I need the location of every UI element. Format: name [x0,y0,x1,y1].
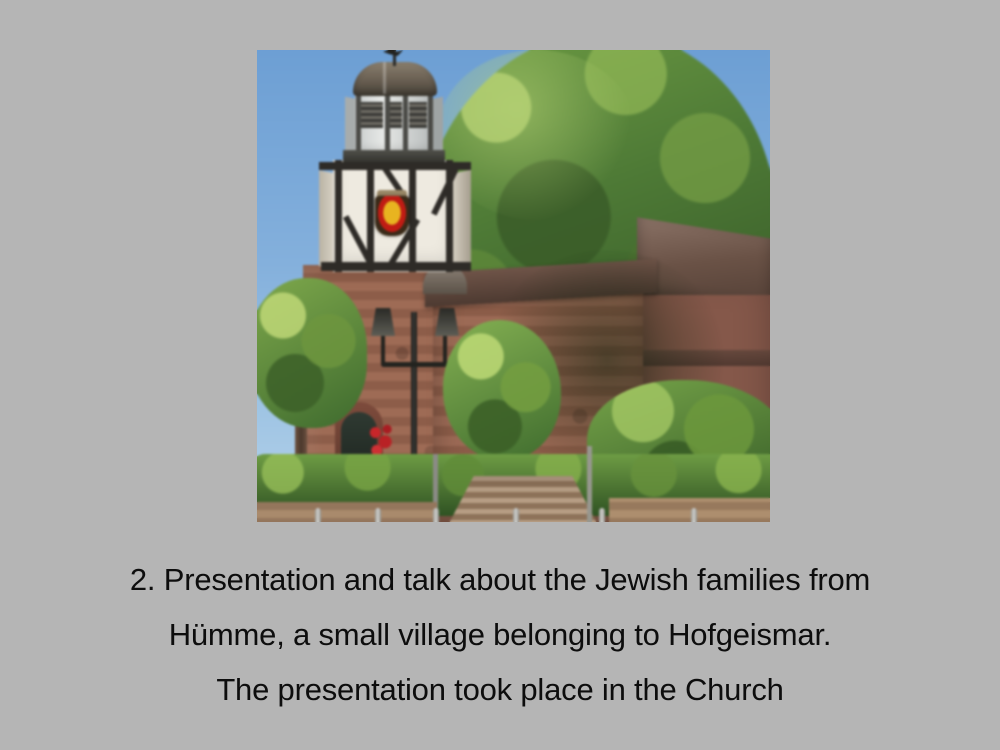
louvre-window-2 [390,102,402,128]
lamp-post-crossarm [381,362,447,367]
bollard [513,508,519,522]
louvre-window-1 [361,102,383,128]
lantern-post-4 [428,90,433,156]
bollard [433,508,439,522]
caption-line-2: Hümme, a small village belonging to Hofg… [40,607,960,662]
lantern-cornice [343,150,445,162]
dome-ridge [383,62,386,94]
low-wall-left [257,502,437,522]
bollard [691,508,697,522]
lantern-post-1 [356,90,361,156]
lamp-hanger-left [381,332,385,364]
caption-line-3: The presentation took place in the Churc… [40,662,960,717]
tower-dome [353,62,437,96]
slide-caption: 2. Presentation and talk about the Jewis… [40,552,960,717]
lantern-post-3 [403,90,408,156]
left-tree-crown [257,278,367,428]
bollard [599,508,605,522]
caption-line-1: 2. Presentation and talk about the Jewis… [40,552,960,607]
bollard [375,508,381,522]
middle-tree-crown [443,320,561,460]
timber-post-3 [409,160,416,272]
lantern-post-2 [385,90,390,156]
low-wall-right [609,498,770,522]
bollard [315,508,321,522]
lamp-hanger-right [443,332,447,364]
timber-post-1 [335,160,342,272]
church-tower-photo [257,50,770,522]
tower-clock-crest [375,196,409,236]
presentation-slide: 2. Presentation and talk about the Jewis… [0,0,1000,750]
louvre-window-3 [409,102,427,128]
handrail-right [587,446,592,522]
